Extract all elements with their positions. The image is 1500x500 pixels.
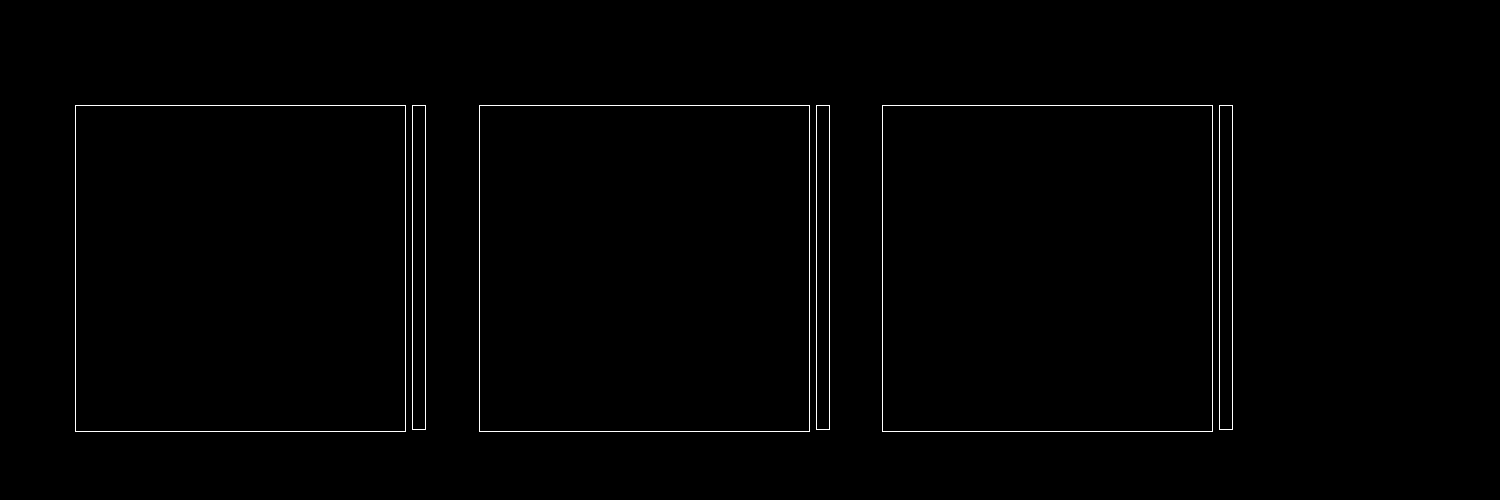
allsky-panel-2[interactable]	[479, 105, 810, 432]
panel-1-header	[75, 83, 406, 103]
panel-1-allsky-image	[76, 106, 405, 431]
panel-1-image-frame[interactable]	[75, 105, 406, 432]
panel-1-colorbar	[412, 105, 426, 430]
allsky-imager-page	[0, 0, 1500, 500]
panel-2-header	[479, 83, 810, 103]
panel-2-colorbar	[816, 105, 830, 430]
panel-2-image-frame[interactable]	[479, 105, 810, 432]
panel-3-image-frame[interactable]	[882, 105, 1213, 432]
panel-3-allsky-image	[883, 106, 1212, 431]
panel-2-allsky-image	[480, 106, 809, 431]
allsky-panel-1[interactable]	[75, 105, 406, 432]
panel-3-colorbar	[1219, 105, 1233, 430]
panel-3-header	[882, 83, 1213, 103]
allsky-panel-3[interactable]	[882, 105, 1213, 432]
